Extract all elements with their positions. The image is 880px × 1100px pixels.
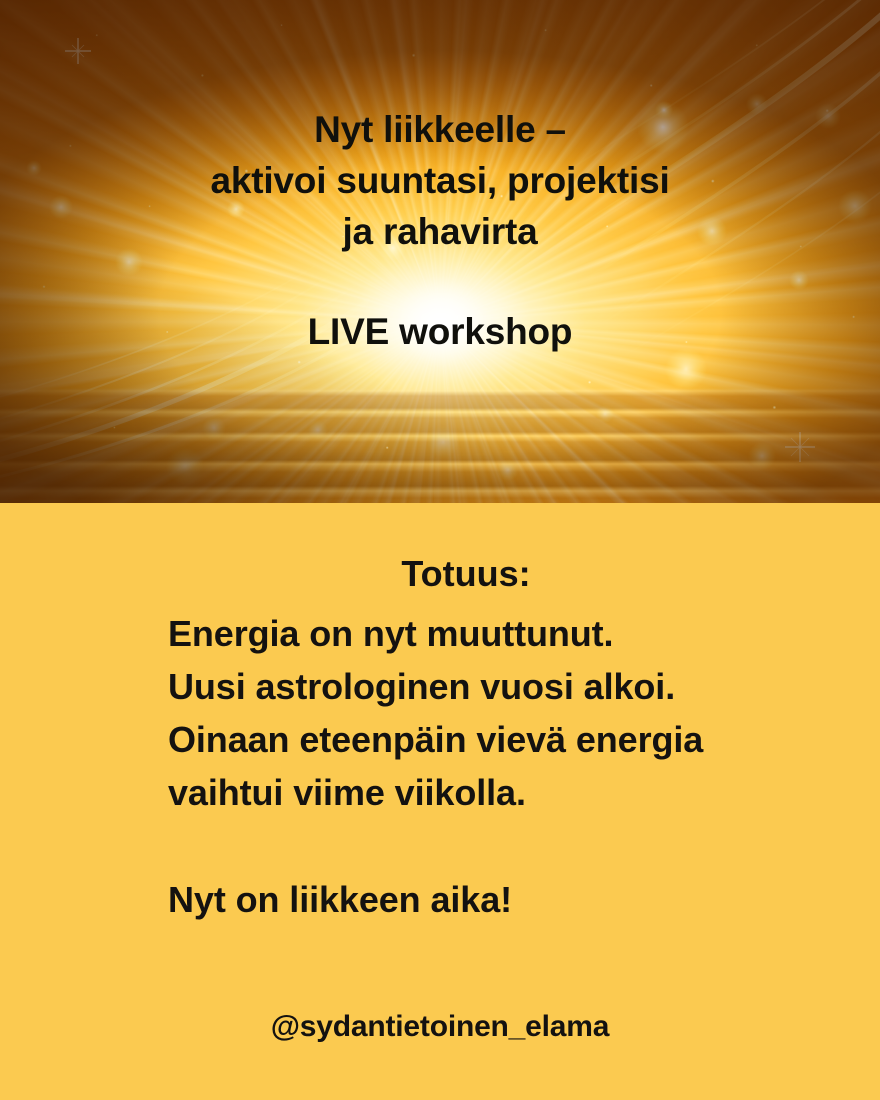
hero-text-block: Nyt liikkeelle – aktivoi suuntasi, proje… [0, 104, 880, 356]
hero-sunburst-image: Nyt liikkeelle – aktivoi suuntasi, proje… [0, 0, 880, 503]
call-to-action-text: Nyt on liikkeen aika! [168, 877, 820, 923]
poster-canvas: Nyt liikkeelle – aktivoi suuntasi, proje… [0, 0, 880, 1100]
content-panel-inner: Totuus: Energia on nyt muuttunut. Uusi a… [168, 551, 820, 923]
panel-body: Energia on nyt muuttunut. Uusi astrologi… [168, 607, 820, 819]
panel-heading: Totuus: [168, 551, 764, 597]
headline-line-1: Nyt liikkeelle – [0, 104, 880, 155]
social-handle[interactable]: @sydantietoinen_elama [0, 1010, 880, 1044]
panel-heading-wrap: Totuus: [168, 551, 764, 597]
headline-line-2: aktivoi suuntasi, projektisi [0, 155, 880, 206]
body-line-3: Oinaan eteenpäin vievä energia [168, 713, 820, 766]
headline-line-3: ja rahavirta [0, 206, 880, 257]
headline: Nyt liikkeelle – aktivoi suuntasi, proje… [0, 104, 880, 257]
body-line-1: Energia on nyt muuttunut. [168, 607, 820, 660]
body-line-4: vaihtui viime viikolla. [168, 766, 820, 819]
body-line-2: Uusi astrologinen vuosi alkoi. [168, 660, 820, 713]
subheading: LIVE workshop [0, 308, 880, 356]
